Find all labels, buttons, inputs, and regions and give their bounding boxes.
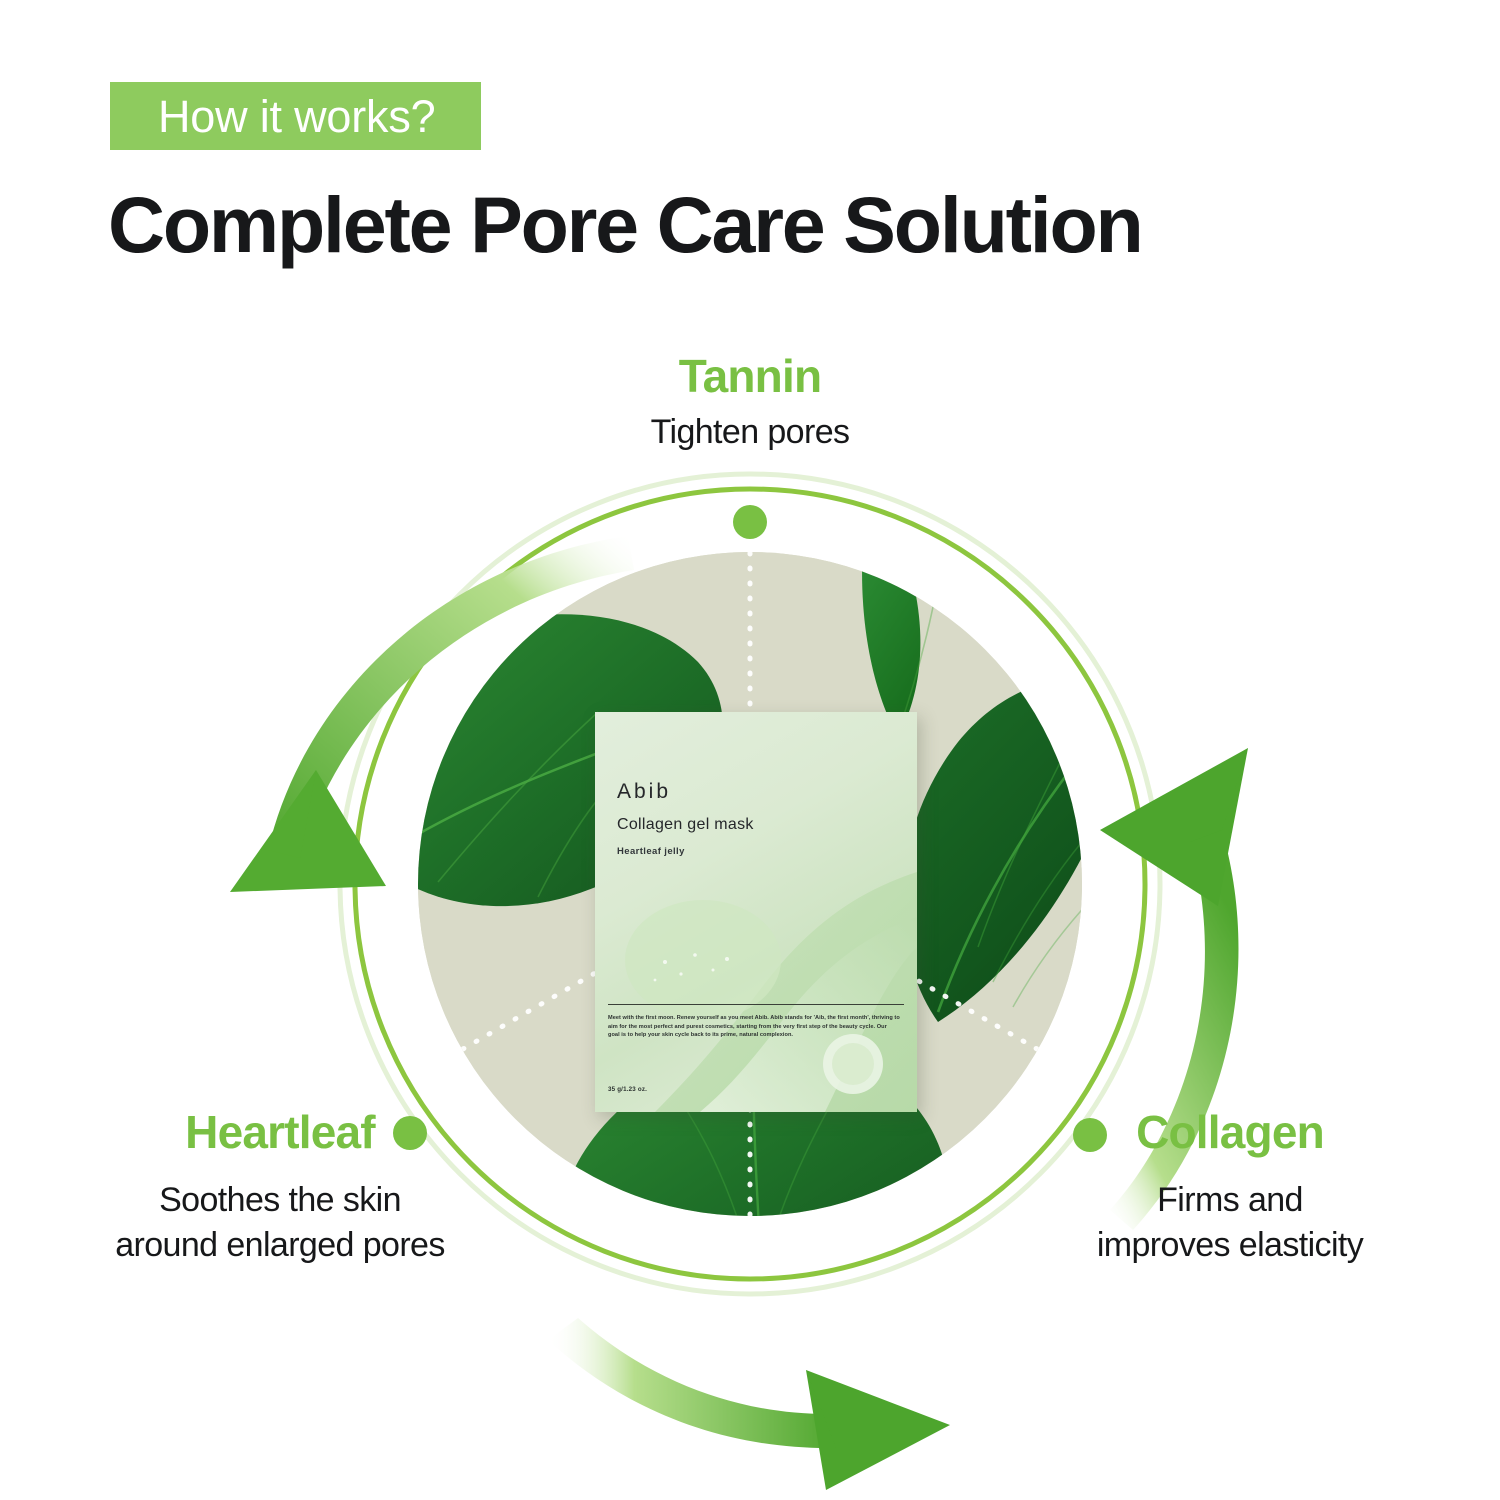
badge-label: How it works?	[158, 94, 435, 139]
node-label-heartleaf: Heartleaf Soothes the skin around enlarg…	[70, 1108, 490, 1268]
pore-care-cycle-diagram: Abib Collagen gel mask Heartleaf jelly M…	[0, 330, 1500, 1500]
infographic-page: How it works? Complete Pore Care Solutio…	[0, 0, 1500, 1500]
node-desc-heartleaf: Soothes the skin around enlarged pores	[70, 1178, 490, 1268]
cycle-rings-and-arrows	[0, 330, 1500, 1500]
arrow-bottom-right-icon	[548, 1318, 950, 1490]
node-label-tannin: Tannin Tighten pores	[0, 352, 1500, 455]
node-title-collagen: Collagen	[1020, 1108, 1440, 1156]
node-title-heartleaf: Heartleaf	[70, 1108, 490, 1156]
node-dot-tannin	[733, 505, 767, 539]
node-desc-collagen-line2: improves elasticity	[1020, 1223, 1440, 1268]
node-desc-heartleaf-line2: around enlarged pores	[70, 1223, 490, 1268]
how-it-works-badge: How it works?	[110, 82, 481, 150]
page-title: Complete Pore Care Solution	[108, 180, 1142, 271]
node-label-collagen: Collagen Firms and improves elasticity	[1020, 1108, 1440, 1268]
node-desc-collagen: Firms and improves elasticity	[1020, 1178, 1440, 1268]
arrow-left-down-icon	[230, 536, 634, 892]
node-title-tannin: Tannin	[0, 352, 1500, 400]
node-desc-tannin: Tighten pores	[0, 410, 1500, 455]
node-desc-collagen-line1: Firms and	[1020, 1178, 1440, 1223]
node-desc-heartleaf-line1: Soothes the skin	[70, 1178, 490, 1223]
